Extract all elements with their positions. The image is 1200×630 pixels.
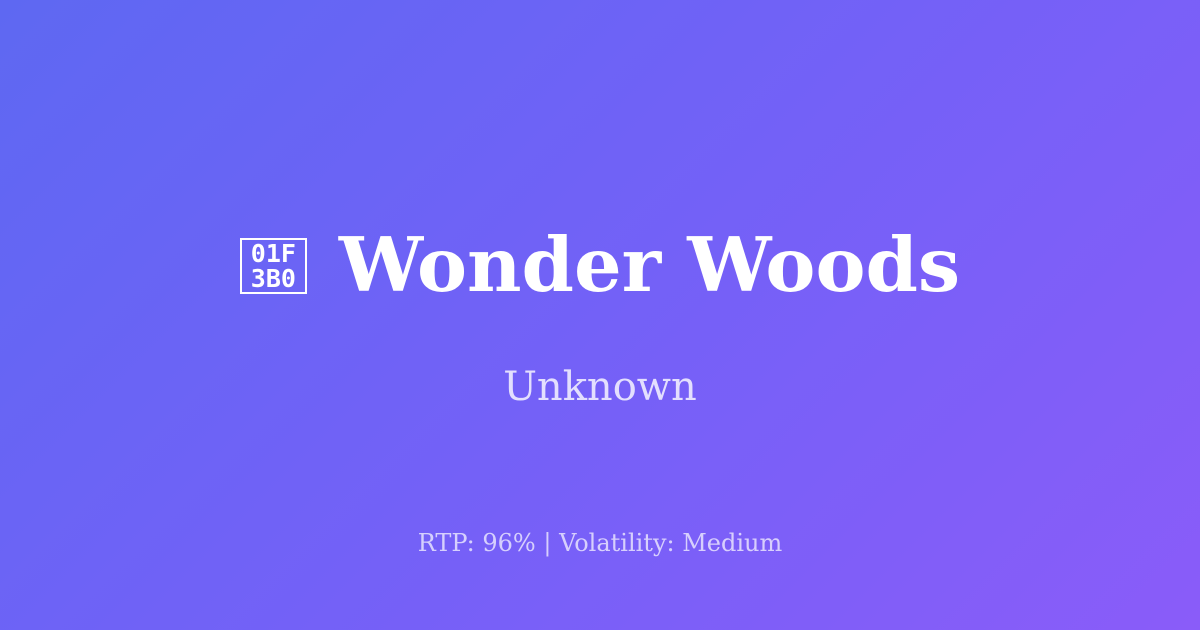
- game-preview-card: 01F 3B0 Wonder Woods Unknown RTP: 96% | …: [0, 0, 1200, 630]
- title-row: 01F 3B0 Wonder Woods: [0, 228, 1200, 303]
- codepoint-bottom: 3B0: [251, 266, 296, 291]
- codepoint-top: 01F: [251, 241, 296, 266]
- game-stats: RTP: 96% | Volatility: Medium: [0, 528, 1200, 558]
- provider-label: Unknown: [0, 363, 1200, 411]
- page-title: Wonder Woods: [339, 228, 960, 303]
- slot-machine-icon: 01F 3B0: [240, 238, 307, 294]
